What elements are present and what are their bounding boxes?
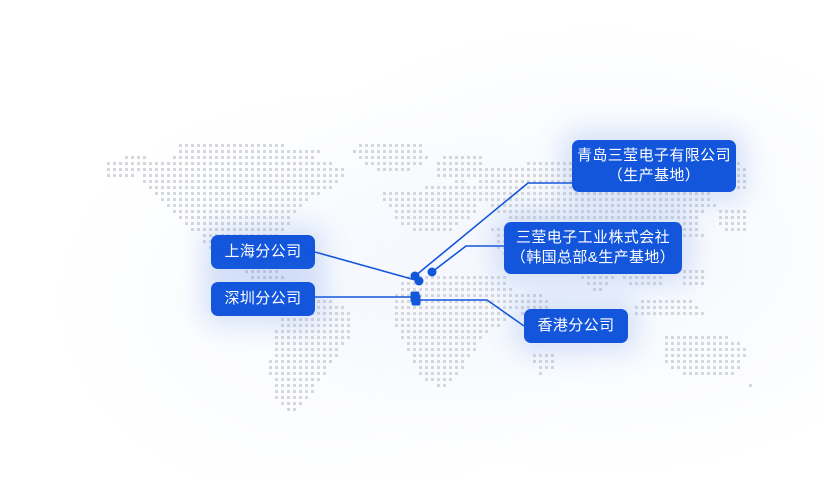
label-qingdao-line2: （生产基地） (608, 166, 700, 186)
label-shenzhen-line1: 深圳分公司 (224, 289, 301, 309)
label-qingdao-line1: 青岛三莹电子有限公司 (577, 146, 731, 166)
label-korea-line1: 三莹电子工业株式会社 (516, 228, 670, 248)
label-hongkong[interactable]: 香港分公司 (524, 309, 628, 343)
label-qingdao[interactable]: 青岛三莹电子有限公司 （生产基地） (572, 140, 736, 192)
korea-marker[interactable] (428, 268, 437, 277)
label-hongkong-line1: 香港分公司 (537, 316, 614, 336)
label-shanghai[interactable]: 上海分公司 (211, 235, 315, 269)
label-shenzhen[interactable]: 深圳分公司 (211, 282, 315, 316)
label-korea-line2: （韩国总部&生产基地） (511, 248, 675, 268)
hongkong-marker[interactable] (412, 295, 421, 306)
label-shanghai-line1: 上海分公司 (224, 242, 301, 262)
shanghai-marker[interactable] (415, 277, 424, 286)
world-dotted-map (0, 0, 824, 480)
world-map-locations-infographic: 青岛三莹电子有限公司 （生产基地） 三莹电子工业株式会社 （韩国总部&生产基地）… (0, 0, 824, 480)
label-korea-hq[interactable]: 三莹电子工业株式会社 （韩国总部&生产基地） (504, 222, 682, 274)
